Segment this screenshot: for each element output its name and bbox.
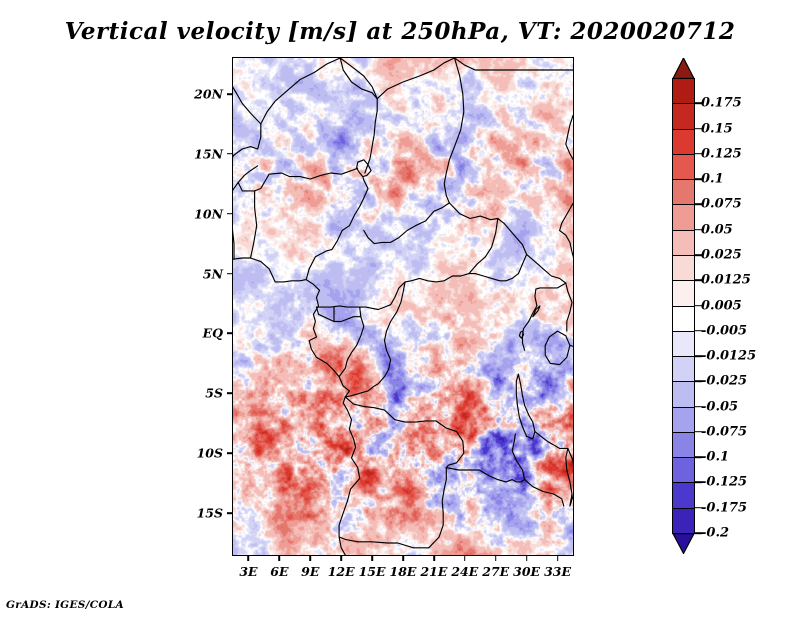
border-path (512, 434, 524, 480)
border-path (233, 202, 234, 260)
longitude-label: 30E (513, 564, 540, 579)
latitude-label: 10N (171, 206, 223, 221)
longitude-tick (309, 555, 311, 561)
colorbar-tick-label: -0.075 (701, 424, 747, 439)
longitude-label: 24E (451, 564, 478, 579)
colorbar-segment (672, 381, 695, 407)
colorbar-tick-label: 0.05 (701, 222, 733, 237)
border-path (429, 468, 447, 548)
colorbar-segment (672, 356, 695, 382)
colorbar-segment (672, 457, 695, 483)
colorbar-segment (672, 78, 695, 104)
colorbar-tick-label: -0.005 (701, 323, 747, 338)
colorbar-tick-label: -0.2 (701, 526, 729, 541)
latitude-label: 10S (171, 446, 223, 461)
border-path (523, 283, 566, 350)
longitude-label: 6E (270, 564, 288, 579)
border-path (527, 254, 566, 283)
border-path (455, 58, 574, 70)
latitude-label: 15N (171, 146, 223, 161)
border-path (377, 58, 454, 99)
border-path (339, 537, 429, 548)
colorbar-segment (672, 129, 695, 155)
border-path (334, 317, 361, 322)
latitude-tick (227, 213, 233, 215)
longitude-label: 9E (301, 564, 319, 579)
page-title: Vertical velocity [m/s] at 250hPa, VT: 2… (0, 18, 800, 45)
colorbar-tick-label: 0.005 (701, 298, 742, 313)
border-path (545, 331, 570, 365)
colorbar-tick-label: -0.1 (701, 450, 729, 465)
latitude-label: EQ (171, 326, 223, 341)
latitude-tick (227, 93, 233, 95)
colorbar-tick-label: 0.0125 (701, 273, 751, 288)
colorbar-tick-label: 0.1 (701, 172, 724, 187)
map-plot-area (233, 58, 573, 555)
colorbar-segment (672, 508, 695, 534)
border-path (469, 219, 527, 281)
latitude-label: 15S (171, 506, 223, 521)
border-path (566, 448, 573, 506)
border-path (340, 58, 377, 99)
colorbar-tick-label: 0.15 (701, 121, 733, 136)
border-path (566, 283, 572, 331)
border-path (233, 124, 261, 190)
colorbar-tick-label: -0.175 (701, 500, 747, 515)
colorbar-tick-label: -0.05 (701, 399, 738, 414)
colorbar-tick-label: 0.075 (701, 197, 742, 212)
border-path (233, 58, 261, 124)
border-path (261, 58, 340, 124)
border-path (306, 177, 368, 280)
colorbar-tick-label: -0.125 (701, 475, 747, 490)
latitude-label: 5N (171, 266, 223, 281)
border-path (233, 183, 255, 202)
colorbar-segment (672, 407, 695, 433)
border-path (317, 219, 498, 310)
latitude-tick (227, 452, 233, 454)
border-path (516, 374, 535, 439)
longitude-label: 18E (390, 564, 417, 579)
colorbar-segment (672, 204, 695, 230)
border-path (309, 284, 360, 555)
latitude-tick (227, 333, 233, 335)
longitude-label: 15E (359, 564, 386, 579)
border-path (449, 203, 497, 220)
border-path (340, 58, 377, 173)
colorbar-segment (672, 255, 695, 281)
latitude-tick (227, 153, 233, 155)
colorbar-segment (672, 154, 695, 180)
colorbar-segment (672, 432, 695, 458)
longitude-tick (464, 555, 466, 561)
longitude-tick (526, 555, 528, 561)
border-path (560, 202, 573, 260)
colorbar-tick-label: -0.0125 (701, 349, 756, 364)
border-path (251, 191, 257, 258)
longitude-tick (279, 555, 281, 561)
border-path (535, 432, 568, 449)
latitude-tick (227, 393, 233, 395)
longitude-label: 21E (420, 564, 447, 579)
border-path (446, 468, 524, 482)
border-path (525, 480, 564, 506)
colorbar-segment (672, 179, 695, 205)
country-borders-overlay (233, 58, 573, 555)
latitude-tick (227, 512, 233, 514)
colorbar-segment (672, 306, 695, 332)
longitude-tick (433, 555, 435, 561)
longitude-label: 12E (328, 564, 355, 579)
border-path (444, 58, 464, 203)
longitude-tick (495, 555, 497, 561)
longitude-tick (402, 555, 404, 561)
colorbar-tick-label: 0.125 (701, 146, 742, 161)
attribution-footer: GrADS: IGES/COLA (6, 599, 124, 611)
longitude-label: 27E (482, 564, 509, 579)
border-path (364, 203, 450, 244)
colorbar-min-arrow (672, 533, 695, 553)
border-path (570, 345, 573, 346)
grads-plot-canvas: Vertical velocity [m/s] at 250hPa, VT: 2… (0, 0, 800, 618)
latitude-label: 20N (171, 86, 223, 101)
colorbar-tick-label: -0.025 (701, 374, 747, 389)
latitude-tick (227, 273, 233, 275)
longitude-tick (371, 555, 373, 561)
longitude-label: 3E (239, 564, 257, 579)
colorbar-segment (672, 103, 695, 129)
colorbar-tick-label: 0.175 (701, 96, 742, 111)
longitude-tick (557, 555, 559, 561)
border-path (233, 258, 313, 284)
border-path (345, 397, 464, 468)
colorbar-segment (672, 280, 695, 306)
colorbar-tick-label: 0.025 (701, 247, 742, 262)
border-path (345, 282, 405, 397)
longitude-label: 33E (544, 564, 571, 579)
border-path (317, 307, 335, 321)
colorbar (672, 78, 695, 533)
border-path (255, 168, 358, 191)
border-path (238, 166, 258, 183)
longitude-tick (248, 555, 250, 561)
colorbar-segment (672, 230, 695, 256)
colorbar-segment (672, 482, 695, 508)
border-path (566, 116, 573, 162)
colorbar-segment (672, 331, 695, 357)
latitude-label: 5S (171, 386, 223, 401)
colorbar-max-arrow (672, 58, 695, 78)
longitude-tick (340, 555, 342, 561)
